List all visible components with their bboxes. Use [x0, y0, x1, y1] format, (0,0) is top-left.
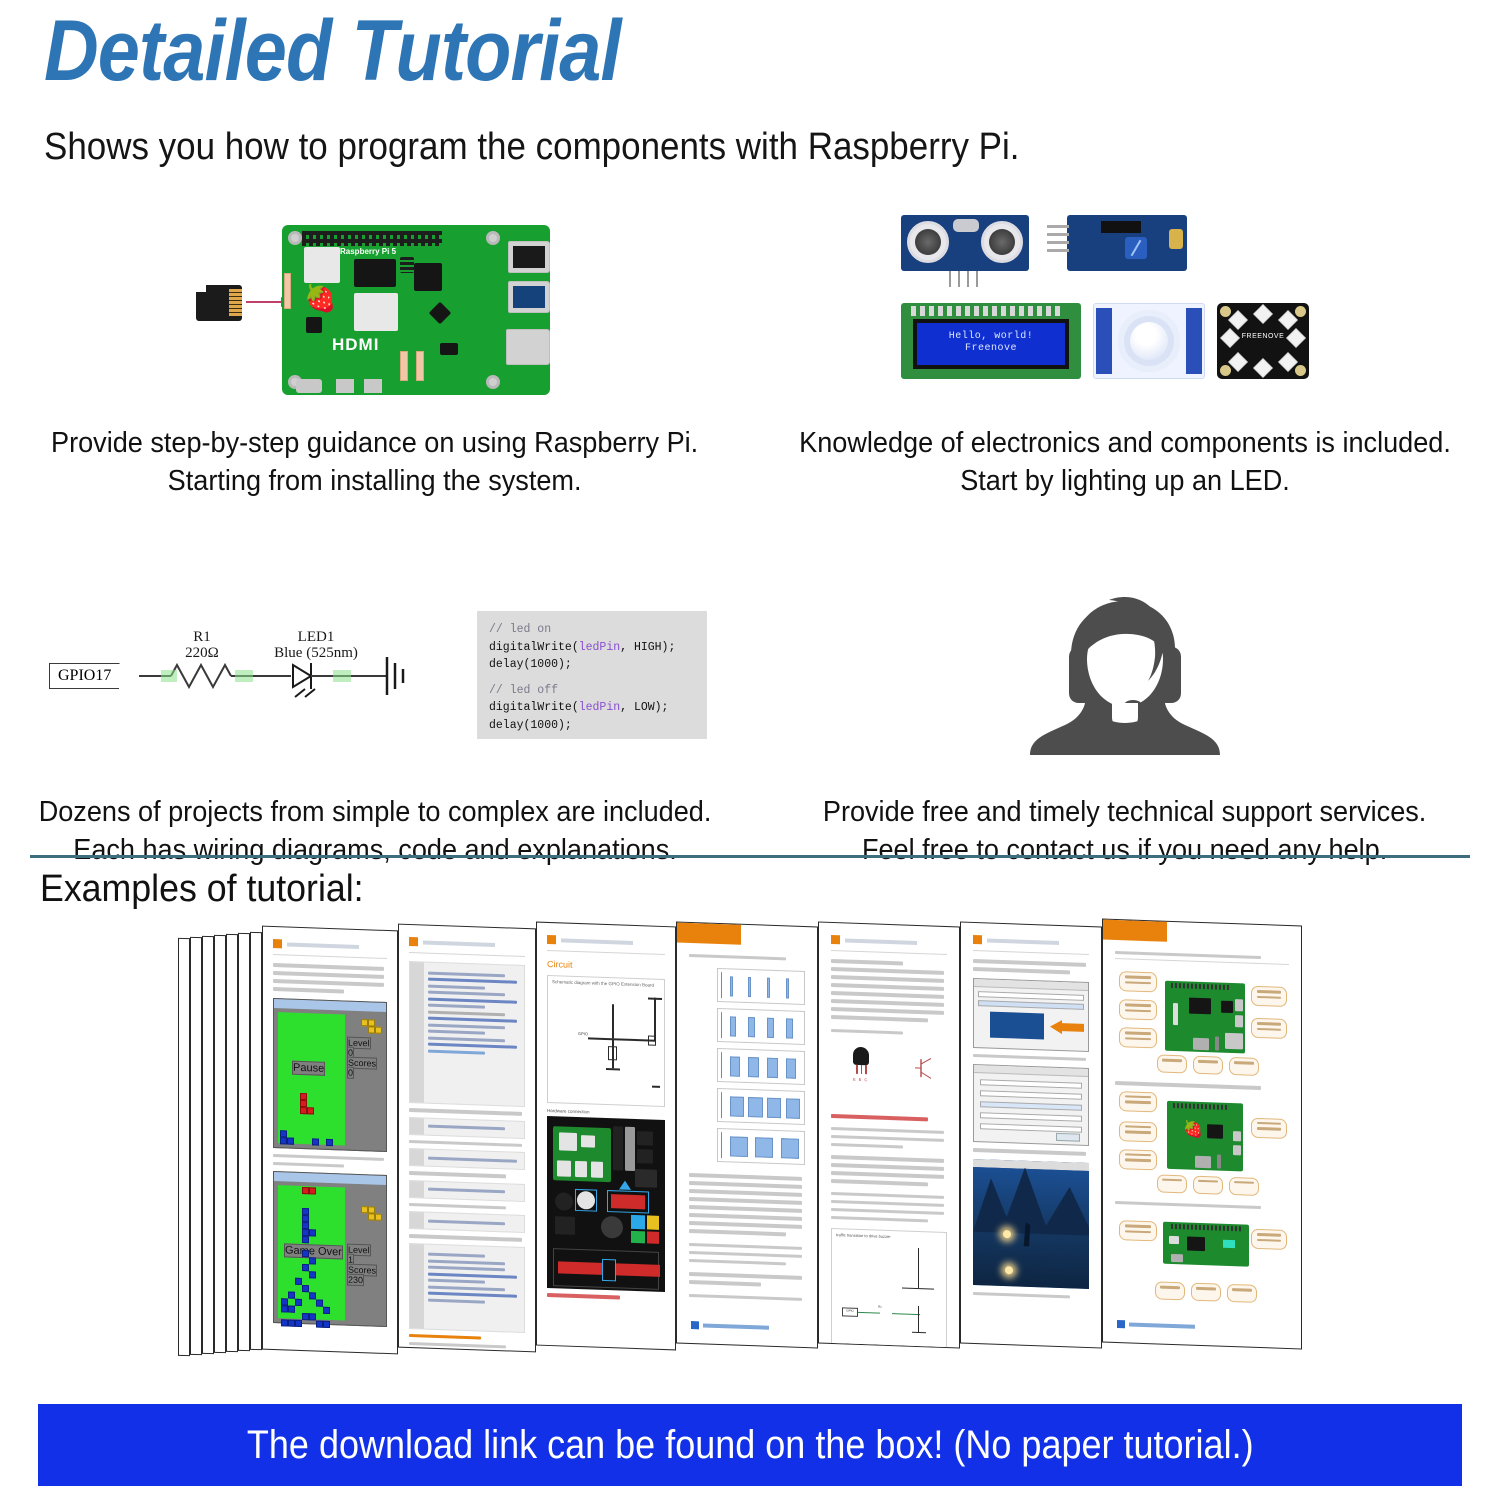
display-connector-2 [416, 351, 424, 381]
resistor-value-label: 220Ω [165, 645, 239, 662]
feature-raspberry-pi-guidance: Raspberry Pi 5 🍓 HDMI [0, 210, 750, 501]
waveform-group [689, 967, 805, 1165]
page-edge [214, 935, 226, 1353]
transistor-symbol-icon [913, 1055, 939, 1082]
code-blank-line [489, 674, 695, 682]
ultrasonic-transmitter-icon [907, 221, 949, 263]
sheet-content [399, 925, 535, 1352]
sheet-brand [831, 935, 947, 948]
annotation-arrow-icon [1050, 1019, 1062, 1033]
circuit-and-code-art: GPIO17 R1 220Ω LED1 Blue (525nm) // led … [0, 593, 750, 758]
text-line [273, 963, 384, 970]
feature-caption: Dozens of projects from simple to comple… [39, 758, 712, 870]
page-edge [238, 933, 250, 1351]
transistor-figure: EBC [831, 1038, 947, 1112]
insert-arrow-icon [246, 301, 282, 303]
callout-audio [1229, 1176, 1259, 1195]
body-text [689, 1272, 805, 1288]
support-agent-svg [1020, 595, 1230, 755]
code-listing-block [409, 1116, 525, 1138]
ultrasonic-receiver-icon [981, 221, 1023, 263]
code-listing-block [409, 1148, 525, 1170]
feature-row-2: GPIO17 R1 220Ω LED1 Blue (525nm) // led … [0, 593, 1500, 870]
page-edge [250, 932, 262, 1350]
gpio-pin-box: GPIO [842, 1307, 858, 1317]
banner-text: The download link can be found on the bo… [247, 1423, 1254, 1468]
infographic-page: Detailed Tutorial Shows you how to progr… [0, 0, 1500, 1500]
caption-line-1: Dozens of projects from simple to comple… [39, 794, 712, 832]
game-sidebar: Level 1 Scores 230 [345, 1188, 382, 1322]
body-text [831, 1191, 947, 1223]
pwm-waveform-chart [717, 1048, 805, 1085]
sheet-content: Circuit Schematic diagram with the GPIO … [537, 923, 675, 1350]
tetris-screenshot-2: Game Over [273, 1171, 387, 1327]
raspbian-desktop-screenshot [973, 1158, 1089, 1288]
hdmi-port-1 [336, 379, 354, 393]
code-line: digitalWrite(ledPin, HIGH); [489, 639, 695, 656]
text-line [273, 971, 384, 978]
game-field: Game Over [278, 1185, 345, 1320]
ok-button[interactable] [1056, 1133, 1080, 1142]
tutorial-sheet-code[interactable] [398, 924, 536, 1353]
page-edge [190, 937, 202, 1355]
rgb-led [1228, 310, 1248, 330]
code-variable: ledPin [579, 701, 620, 714]
pin-header [400, 257, 414, 273]
pi-board-diagram: 🍓 [1167, 1100, 1243, 1171]
support-chip [414, 263, 442, 291]
section-divider [30, 855, 1470, 858]
text-line [409, 1234, 522, 1241]
feature-grid: Raspberry Pi 5 🍓 HDMI [0, 210, 1500, 870]
text-line [273, 979, 384, 986]
code-line: delay(1000); [489, 717, 695, 734]
body-text [831, 959, 947, 1023]
text-line [973, 1148, 1086, 1155]
text-line [273, 1162, 344, 1168]
tutorial-page-fan: Pause Level 0 Scores [0, 920, 1500, 1370]
callout-display [1119, 1121, 1157, 1142]
text-line [409, 1341, 506, 1348]
sheet-brand [409, 937, 525, 950]
feature-caption: Provide step-by-step guidance on using R… [51, 405, 698, 501]
text-line [409, 1171, 506, 1178]
caption-line-2: Feel free to contact us if you need any … [823, 832, 1426, 870]
window-titlebar [274, 1172, 386, 1185]
schematic-diagram: Schematic diagram with the GPIO Extensio… [547, 975, 665, 1107]
brand-square-icon [409, 937, 418, 946]
tutorial-sheet-vnc[interactable] [960, 922, 1102, 1349]
support-agent-art [750, 593, 1500, 758]
text-line [689, 953, 786, 960]
schematic-label: GPIO [578, 1031, 588, 1036]
callout-gpio [1119, 1091, 1157, 1112]
sheet-brand [273, 939, 387, 952]
code-listing-block [409, 1179, 525, 1201]
caption-line-2: Start by lighting up an LED. [799, 463, 1451, 501]
usb2-ports [508, 241, 550, 273]
hardware-connection-photo [547, 1116, 665, 1292]
highlight-tag [409, 1349, 462, 1352]
gpio-pin-label: GPIO17 [49, 663, 120, 689]
raspberry-pi-board-art: Raspberry Pi 5 🍓 HDMI [0, 210, 750, 405]
text-line [409, 1139, 522, 1146]
login-dialog-screenshot [973, 1064, 1089, 1146]
callout-gpio [1119, 971, 1157, 992]
game-field: Pause [278, 1012, 345, 1145]
callout-camera [1193, 1175, 1223, 1194]
pi-zero-diagram [1163, 1222, 1249, 1267]
rgb-led [1228, 352, 1248, 372]
pi-wrap: Raspberry Pi 5 🍓 HDMI [190, 213, 560, 403]
brand-url [287, 942, 359, 949]
support-agent-icon [1020, 595, 1230, 755]
tutorial-sheet-circuit[interactable]: Circuit Schematic diagram with the GPIO … [536, 922, 676, 1351]
callout-power [1119, 1027, 1157, 1048]
lantern-glow [1003, 1230, 1011, 1238]
note-line [547, 1293, 620, 1299]
sheet-brand [547, 935, 665, 948]
code-line: digitalWrite(ledPin, LOW); [489, 699, 695, 716]
sheet-content [677, 923, 817, 1348]
microsd-card-icon [196, 285, 242, 321]
code-listing-block [409, 961, 525, 1107]
pwm-waveform-chart [717, 968, 805, 1005]
soc-chip [354, 259, 396, 287]
page-edge [226, 934, 238, 1352]
page-edge [202, 936, 214, 1354]
rgb-led [1253, 304, 1273, 324]
pi-board-diagram [1165, 981, 1245, 1054]
potentiometer-icon [1125, 237, 1147, 259]
tutorial-sheet-transistor[interactable]: EBC traffic transistor to driv [818, 922, 960, 1349]
code-listing-block [409, 1242, 525, 1332]
text-line [273, 987, 344, 993]
tetris-screenshot-1: Pause Level 0 Scores [273, 998, 387, 1152]
callout-hdmi [1157, 1054, 1187, 1073]
callout-usb [1251, 1117, 1287, 1138]
annotation-arrow-tail [1062, 1023, 1084, 1032]
game-status-label: Pause [292, 1060, 325, 1075]
text-line [409, 1108, 522, 1115]
breadboard-closeup [553, 1248, 659, 1290]
lcd1602-display-module: Hello, world! Freenove [901, 303, 1081, 379]
hardware-diagram-1 [1115, 967, 1289, 1077]
code-variable: ledPin [579, 641, 620, 654]
code-line: // led on [489, 621, 695, 638]
code-line: // led off [489, 682, 695, 699]
sheet-rule [831, 950, 947, 955]
resistor-label: R1 [878, 1305, 882, 1309]
code-snippet-block: // led on digitalWrite(ledPin, HIGH); de… [477, 611, 707, 739]
caption-line-1: Knowledge of electronics and components … [799, 425, 1451, 463]
photoresistor-icon [1169, 229, 1183, 249]
footer-email [703, 1324, 769, 1330]
page-edge [178, 938, 190, 1356]
feature-electronics-knowledge: Hello, world! Freenove [750, 210, 1500, 501]
body-text [689, 1173, 805, 1237]
brand-url [561, 938, 633, 945]
mount-pad [1220, 365, 1231, 376]
usbc-power-port [296, 379, 322, 393]
text-line [973, 967, 1070, 974]
code-line: delay(1000); [489, 656, 695, 673]
led-circuit-diagram: GPIO17 R1 220Ω LED1 Blue (525nm) [43, 615, 443, 735]
sheet-rule [273, 954, 387, 959]
sheet-rule [547, 950, 665, 955]
usb3-ports [508, 281, 550, 313]
scores-value: 230 [347, 1274, 364, 1287]
mount-hole [486, 231, 500, 245]
led-ref-label: LED1 [251, 629, 381, 646]
pwm-waveform-chart [717, 1128, 805, 1165]
lantern-reflection [1005, 1266, 1013, 1274]
sensor-pins [949, 271, 983, 287]
callout-display [1119, 999, 1157, 1020]
sheet-rule [1115, 958, 1289, 965]
display-connector [284, 273, 291, 309]
footer-email [1129, 1323, 1195, 1329]
body-text [831, 1126, 947, 1150]
raspberry-pi-board: Raspberry Pi 5 🍓 HDMI [282, 225, 550, 395]
brand-square-icon [273, 939, 282, 948]
raspberry-logo-icon: 🍓 [1183, 1119, 1203, 1140]
lcd-pin-header [911, 306, 1061, 316]
callout-power [1227, 1284, 1257, 1303]
text-line [973, 1291, 1070, 1298]
page-subtitle: Shows you how to program the components … [44, 126, 1019, 169]
sheet-content: 🍓 [1103, 920, 1301, 1349]
callout-gpio [1119, 1220, 1157, 1241]
feature-caption: Provide free and timely technical suppor… [823, 758, 1426, 870]
body-text [689, 1242, 805, 1266]
body-text [831, 1155, 947, 1187]
examples-heading: Examples of tutorial: [40, 868, 364, 911]
page-title: Detailed Tutorial [44, 8, 621, 94]
text-line [973, 1053, 1086, 1060]
vnc-dialog-screenshot [973, 977, 1089, 1051]
led-value-label: Blue (525nm) [251, 645, 381, 662]
comparator-ic [1101, 221, 1141, 233]
crystal-oscillator [953, 219, 979, 232]
callout-camera [1193, 1056, 1223, 1075]
resistor-ref-label: R1 [165, 629, 239, 646]
camera-connector [400, 351, 408, 381]
photoresistor-sensor-module [1067, 215, 1187, 271]
hardware-diagram-2: 🍓 [1115, 1086, 1289, 1196]
ram-chip [304, 247, 340, 283]
section-heading-line [409, 1333, 481, 1339]
caption-line-1: Provide free and timely technical suppor… [823, 794, 1426, 832]
tutorial-sheet-hardware-diagram[interactable]: 🍓 [1102, 919, 1302, 1350]
transistor-circuit-figure: traffic transistor to drive buzzer GPIO … [831, 1228, 947, 1349]
feature-projects-wiring-code: GPIO17 R1 220Ω LED1 Blue (525nm) // led … [0, 593, 750, 870]
callout-audio [1229, 1057, 1259, 1076]
sheet-brand [973, 935, 1089, 948]
body-text [689, 1293, 805, 1301]
rgb-led-ring-module: FREENOVE [1217, 303, 1309, 379]
callout-hdmi [1155, 1281, 1185, 1300]
sheet-footer [691, 1321, 769, 1332]
pwm-waveform-chart [717, 1088, 805, 1125]
pir-right-header [1186, 308, 1202, 374]
text-line [973, 959, 1086, 966]
game-sidebar: Level 0 Scores 0 [345, 1014, 382, 1146]
sheet-content: Pause Level 0 Scores [263, 927, 397, 1354]
comp-wrap: Hello, world! Freenove [895, 213, 1355, 403]
pin-labels: EBC [853, 1077, 870, 1083]
pwm-waveform-chart [717, 1008, 805, 1045]
figure-title: traffic transistor to drive buzzer [836, 1232, 891, 1239]
lcd-line-2: Freenove [917, 343, 1065, 356]
gpio-header-icon [302, 231, 442, 246]
ethernet-controller [354, 293, 398, 331]
small-chip [306, 317, 322, 333]
vnc-thumbnail [990, 1011, 1044, 1039]
lcd-line-1: Hello, world! [917, 331, 1065, 344]
callout-usb [1191, 1283, 1221, 1302]
callout-camera [1251, 1229, 1287, 1250]
raspberry-logo-icon: 🍓 [304, 283, 330, 313]
note-line [831, 1114, 928, 1121]
pir-left-header [1096, 308, 1112, 374]
pir-motion-sensor-module [1093, 303, 1205, 379]
sheet-content [961, 923, 1101, 1348]
tutorial-sheet-waveforms[interactable] [676, 922, 818, 1349]
window-titlebar [274, 999, 386, 1012]
dialog-titlebar [974, 1065, 1088, 1077]
mount-pad [1295, 365, 1306, 376]
brand-url [423, 940, 495, 947]
sheet-rule [973, 950, 1089, 955]
mount-hole [288, 231, 302, 245]
rgb-led [1253, 358, 1273, 378]
mount-pad [1295, 306, 1306, 317]
footer-icon [1117, 1320, 1125, 1328]
tutorial-sheet-tetris[interactable]: Pause Level 0 Scores [262, 926, 398, 1355]
lcd-screen: Hello, world! Freenove [913, 319, 1069, 369]
text-line [273, 1154, 384, 1161]
board-model-label: Raspberry Pi 5 [340, 247, 396, 256]
wifi-chip [429, 301, 452, 324]
brand-url [987, 938, 1059, 945]
caption-line-2: Starting from installing the system. [51, 463, 698, 501]
annotation-arrow-icon [619, 1180, 631, 1189]
ethernet-port [506, 329, 550, 365]
gpio-pads [440, 343, 458, 355]
code-listing-block [409, 1211, 525, 1233]
download-banner: The download link can be found on the bo… [38, 1404, 1462, 1486]
section-heading: Circuit [547, 959, 665, 973]
sheet-rule [409, 952, 525, 957]
callout-ethernet [1251, 1018, 1287, 1039]
hdmi-label: HDMI [332, 335, 379, 355]
schematic-caption: Schematic diagram with the GPIO Extensio… [552, 979, 656, 988]
mount-pad [1220, 306, 1231, 317]
callout-usb [1251, 986, 1287, 1007]
figure-caption-line [831, 1028, 903, 1034]
brand-square-icon [547, 935, 556, 944]
component-collage-art: Hello, world! Freenove [750, 210, 1500, 405]
hdmi-port-2 [364, 379, 382, 393]
sheet-footer [1117, 1320, 1195, 1331]
callout-power [1119, 1149, 1157, 1170]
fresnel-lens-icon [1118, 310, 1180, 372]
dialog-titlebar [974, 979, 1088, 991]
caption-line-1: Provide step-by-step guidance on using R… [51, 425, 698, 463]
caption-line-2: Each has wiring diagrams, code and expla… [39, 832, 712, 870]
callout-hdmi [1157, 1174, 1187, 1193]
feature-caption: Knowledge of electronics and components … [799, 405, 1451, 501]
hardware-diagram-3 [1115, 1206, 1289, 1308]
ultrasonic-sensor-module [901, 215, 1029, 271]
text-line [409, 1202, 506, 1209]
footer-icon [691, 1321, 699, 1329]
sheet-content: EBC traffic transistor to driv [819, 923, 959, 1348]
brand-square-icon [973, 935, 982, 944]
brand-square-icon [831, 935, 840, 944]
feature-technical-support: Provide free and timely technical suppor… [750, 593, 1500, 870]
brand-url [845, 938, 917, 945]
freenove-logo-label: FREENOVE [1217, 333, 1309, 340]
module-pin-header [1047, 225, 1069, 255]
scores-value: 0 [347, 1066, 354, 1078]
mount-hole [486, 375, 500, 389]
feature-row-1: Raspberry Pi 5 🍓 HDMI [0, 210, 1500, 501]
